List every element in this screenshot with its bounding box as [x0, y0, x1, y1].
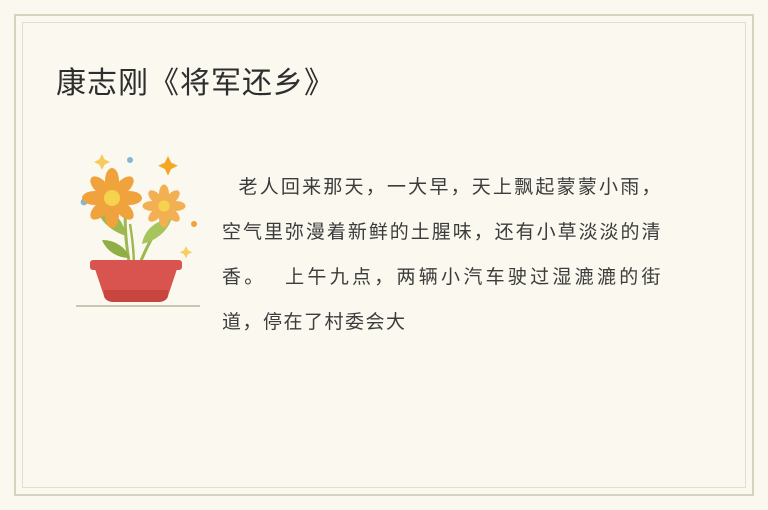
page-title: 康志刚《将军还乡》	[56, 58, 335, 102]
sparkle-icon	[94, 154, 110, 170]
star-icon	[158, 156, 178, 176]
dot-icon	[191, 221, 197, 227]
sparkle-icon	[180, 246, 192, 258]
document-card: 康志刚《将军还乡》	[0, 0, 768, 510]
dot-icon	[127, 157, 133, 163]
potted-flower-illustration	[68, 140, 208, 315]
article-body: 老人回来那天，一大早，天上飘起蒙蒙小雨，空气里弥漫着新鲜的土腥味，还有小草淡淡的…	[222, 165, 662, 345]
flower-icon	[82, 168, 142, 228]
flower-icon	[143, 185, 186, 228]
